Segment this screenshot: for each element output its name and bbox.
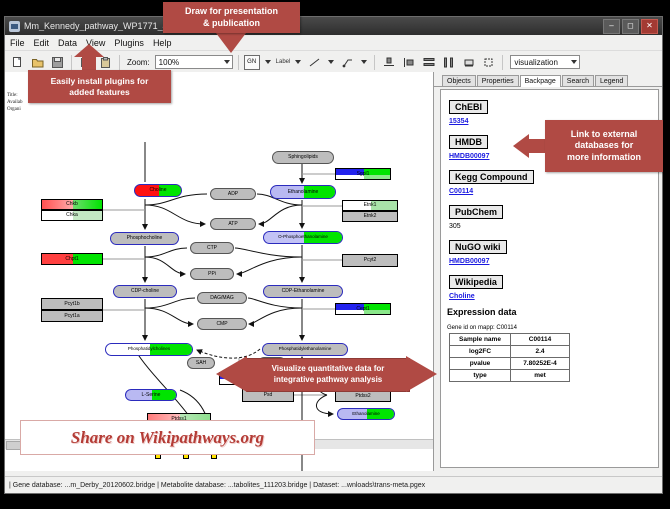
db-group-wikipedia: Wikipedia Choline xyxy=(449,272,654,300)
node-phosphatidylethanolamine[interactable]: Phosphatidylethanolamine xyxy=(262,343,348,356)
node-sphingolipids[interactable]: Sphingolipids xyxy=(272,151,334,164)
align-top-icon[interactable] xyxy=(380,54,397,71)
zoom-select[interactable]: 100% xyxy=(155,55,233,69)
status-text: | Gene database: ...m_Derby_20120602.bri… xyxy=(5,482,425,489)
db-name-pubchem: PubChem xyxy=(449,205,503,219)
callout-plugins-line1: Easily install plugins for xyxy=(51,76,149,87)
group-icon[interactable] xyxy=(480,54,497,71)
visualization-chevron-down-icon xyxy=(571,60,577,64)
callout-draw-line2: & publication xyxy=(203,18,260,29)
db-value-pubchem: 305 xyxy=(449,223,654,230)
node-sgpl1[interactable]: Sgpl1 xyxy=(335,168,391,180)
maximize-button[interactable]: ◻ xyxy=(622,19,639,34)
db-link-wikipedia[interactable]: Choline xyxy=(449,293,654,300)
db-name-kegg: Kegg Compound xyxy=(449,170,534,184)
node-phosphocholine[interactable]: Phosphocholine xyxy=(110,232,179,245)
callout-link-line2: databases for xyxy=(575,140,634,151)
minimize-button[interactable]: – xyxy=(603,19,620,34)
label-dropdown-label: Label xyxy=(276,59,291,65)
callout-visualize-line2: integrative pathway analysis xyxy=(274,375,383,386)
node-chka[interactable]: Chka xyxy=(41,210,103,221)
node-etnk2[interactable]: Etnk2 xyxy=(342,211,398,222)
node-atp[interactable]: ATP xyxy=(210,218,256,230)
menu-item-help[interactable]: Help xyxy=(153,38,172,48)
db-link-kegg[interactable]: C00114 xyxy=(449,188,654,195)
toolbar-separator-2 xyxy=(119,55,120,70)
line-icon[interactable] xyxy=(306,54,323,71)
node-ethanolamine[interactable]: Ethanolamine xyxy=(270,185,336,199)
zoom-value: 100% xyxy=(159,58,179,67)
node-cdp-ethanolamine[interactable]: CDP-Ethanolamine xyxy=(263,285,343,298)
toolbar-separator-4 xyxy=(374,55,375,70)
status-bar: | Gene database: ...m_Derby_20120602.bri… xyxy=(5,476,662,493)
node-phosphatidylcholines[interactable]: Phosphatidylcholines xyxy=(105,343,193,356)
db-link-nugo[interactable]: HMDB00097 xyxy=(449,258,654,265)
callout-draw: Draw for presentation & publication xyxy=(163,2,300,33)
distribute-horizontal-icon[interactable] xyxy=(440,54,457,71)
expr-value-type: met xyxy=(511,370,570,382)
table-row: Sample name C00114 xyxy=(450,334,570,346)
expr-key-log2fc: log2FC xyxy=(450,346,511,358)
node-ctp[interactable]: CTP xyxy=(190,242,234,254)
tab-objects[interactable]: Objects xyxy=(442,75,476,86)
callout-link-arrow-head xyxy=(513,134,529,158)
node-cdp-choline[interactable]: CDP-choline xyxy=(113,285,177,298)
node-ppi[interactable]: PPi xyxy=(190,268,234,280)
stack-icon[interactable] xyxy=(460,54,477,71)
pathvisio-icon xyxy=(9,21,20,32)
node-cmp[interactable]: CMP xyxy=(197,318,247,330)
callout-link-line3: more information xyxy=(567,152,641,163)
visualization-value: visualization xyxy=(514,58,558,67)
node-etnk1[interactable]: Etnk1 xyxy=(342,200,398,211)
chevron-down-icon xyxy=(224,60,230,64)
menu-item-edit[interactable]: Edit xyxy=(34,38,50,48)
tab-legend[interactable]: Legend xyxy=(595,75,628,86)
node-adp[interactable]: ADP xyxy=(210,188,256,200)
db-name-chebi: ChEBI xyxy=(449,100,488,114)
expr-value-pvalue: 7.80252E-4 xyxy=(511,358,570,370)
tab-properties[interactable]: Properties xyxy=(477,75,519,86)
window-controls: – ◻ ✕ xyxy=(603,19,658,34)
interaction-chevron-down-icon[interactable] xyxy=(361,60,367,64)
menu-item-file[interactable]: File xyxy=(10,38,25,48)
callout-visualize: Visualize quantitative data for integrat… xyxy=(216,356,436,392)
expr-value-log2fc: 2.4 xyxy=(511,346,570,358)
visualization-select[interactable]: visualization xyxy=(510,55,580,69)
label-chevron-down-icon[interactable] xyxy=(295,60,301,64)
expr-key-pvalue: pvalue xyxy=(450,358,511,370)
gene-id-line: Gene id on mapp: C00114 xyxy=(447,325,654,331)
table-row: log2FC 2.4 xyxy=(450,346,570,358)
db-name-nugo: NuGO wiki xyxy=(449,240,507,254)
callout-plugins: Easily install plugins for added feature… xyxy=(28,70,171,103)
callout-draw-line1: Draw for presentation xyxy=(185,6,278,17)
expression-data-heading: Expression data xyxy=(447,307,654,317)
close-button[interactable]: ✕ xyxy=(641,19,658,34)
interaction-icon[interactable] xyxy=(339,54,356,71)
db-name-wikipedia: Wikipedia xyxy=(449,275,503,289)
screenshot-root: Mm_Kennedy_pathway_WP1771_45176.gpml – ◻… xyxy=(0,0,670,509)
callout-share: Share on Wikipathways.org xyxy=(20,420,315,455)
side-panel-tabs: Objects Properties Backpage Search Legen… xyxy=(434,72,662,87)
table-row: pvalue 7.80252E-4 xyxy=(450,358,570,370)
node-pcyt1b[interactable]: Pcyt1b xyxy=(41,298,103,310)
pathway-drawing[interactable]: Title: Availab Organi xyxy=(5,72,433,471)
callout-draw-arrow xyxy=(216,33,246,53)
window-titlebar: Mm_Kennedy_pathway_WP1771_45176.gpml – ◻… xyxy=(5,17,662,35)
new-document-icon[interactable] xyxy=(9,54,26,71)
align-left-icon[interactable] xyxy=(400,54,417,71)
callout-visualize-arrow-left xyxy=(216,356,247,392)
datanode-icon[interactable]: GN xyxy=(244,55,260,70)
node-pcyt1a[interactable]: Pcyt1a xyxy=(41,310,103,322)
toolbar-separator-3 xyxy=(238,55,239,70)
tab-backpage[interactable]: Backpage xyxy=(520,75,561,87)
node-dag-mag[interactable]: DAG/MAG xyxy=(197,292,247,304)
db-group-pubchem: PubChem 305 xyxy=(449,202,654,230)
node-chkb[interactable]: Chkb xyxy=(41,199,103,210)
node-chpt1[interactable]: Chpt1 xyxy=(41,253,103,265)
expr-key-sample-name: Sample name xyxy=(450,334,511,346)
callout-plugins-arrow-head xyxy=(74,44,104,57)
zoom-label: Zoom: xyxy=(127,58,150,67)
callout-visualize-arrow-right xyxy=(406,356,437,392)
db-group-nugo: NuGO wiki HMDB00097 xyxy=(449,237,654,265)
callout-link-line1: Link to external xyxy=(571,129,638,140)
callout-plugins-line2: added features xyxy=(69,87,129,98)
callout-share-text: Share on Wikipathways.org xyxy=(71,428,264,448)
node-choline-top[interactable]: Choline xyxy=(134,184,182,197)
node-o-phosphoethanolamine[interactable]: O-Phosphoethanolamine xyxy=(263,231,343,244)
pathway-canvas[interactable]: Title: Availab Organi xyxy=(5,72,434,471)
node-ethanolamine-right[interactable]: Ethanolamine xyxy=(337,408,395,420)
toolbar-separator xyxy=(71,55,72,70)
table-row: type met xyxy=(450,370,570,382)
callout-link: Link to external databases for more info… xyxy=(545,120,663,172)
toolbar-separator-5 xyxy=(502,55,503,70)
db-name-hmdb: HMDB xyxy=(449,135,488,149)
tab-search[interactable]: Search xyxy=(562,75,594,86)
distribute-vertical-icon[interactable] xyxy=(420,54,437,71)
menu-item-plugins[interactable]: Plugins xyxy=(114,38,144,48)
node-sah[interactable]: SAH xyxy=(187,357,215,369)
datanode-chevron-down-icon[interactable] xyxy=(265,60,271,64)
line-chevron-down-icon[interactable] xyxy=(328,60,334,64)
node-pcyt2[interactable]: Pcyt2 xyxy=(342,254,398,267)
save-icon[interactable] xyxy=(49,54,66,71)
callout-visualize-line1: Visualize quantitative data for xyxy=(272,364,385,375)
expr-value-sample-name: C00114 xyxy=(511,334,570,346)
expr-key-type: type xyxy=(450,370,511,382)
expression-table: Sample name C00114 log2FC 2.4 pvalue 7.8… xyxy=(449,333,570,382)
open-folder-icon[interactable] xyxy=(29,54,46,71)
node-cept1[interactable]: Cept1 xyxy=(335,303,391,315)
node-l-serine-left[interactable]: L-Serine xyxy=(125,389,177,401)
